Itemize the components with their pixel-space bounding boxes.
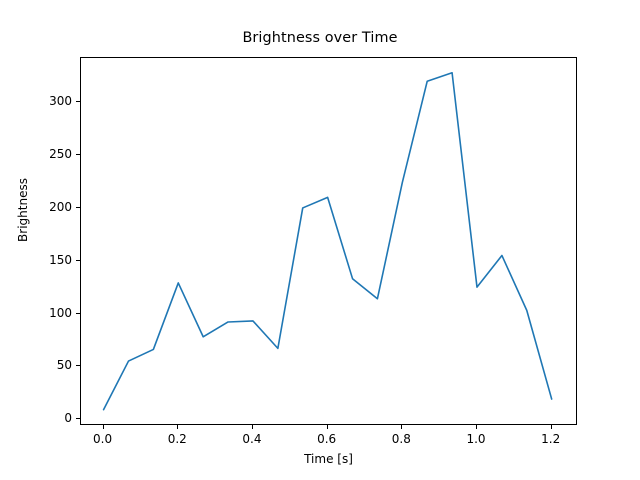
x-tick-mark <box>252 425 253 429</box>
chart-title: Brightness over Time <box>0 30 640 46</box>
x-tick-mark <box>476 425 477 429</box>
x-tick-label: 0.8 <box>371 432 431 446</box>
y-tick-label: 50 <box>10 359 72 371</box>
y-tick-label: 0 <box>10 412 72 424</box>
x-tick-label: 1.0 <box>446 432 506 446</box>
x-tick-mark <box>551 425 552 429</box>
y-tick-mark <box>76 154 80 155</box>
y-tick-mark <box>76 418 80 419</box>
x-tick-mark <box>103 425 104 429</box>
plot-area <box>80 57 577 425</box>
x-tick-label: 0.6 <box>297 432 357 446</box>
y-tick-label: 300 <box>10 95 72 107</box>
matplotlib-figure: Brightness over Time 050100150200250300 … <box>0 0 640 480</box>
y-tick-mark <box>76 365 80 366</box>
data-line-series <box>81 58 578 426</box>
y-tick-mark <box>76 207 80 208</box>
x-tick-label: 1.2 <box>521 432 581 446</box>
x-tick-label: 0.2 <box>147 432 207 446</box>
y-tick-mark <box>76 260 80 261</box>
y-axis-label: Brightness <box>16 110 30 310</box>
y-tick-mark <box>76 313 80 314</box>
x-tick-mark <box>401 425 402 429</box>
x-tick-label: 0.0 <box>73 432 133 446</box>
x-tick-mark <box>177 425 178 429</box>
x-axis-label: Time [s] <box>80 452 577 466</box>
x-tick-mark <box>327 425 328 429</box>
brightness-line <box>104 73 552 410</box>
x-tick-label: 0.4 <box>222 432 282 446</box>
y-tick-mark <box>76 101 80 102</box>
